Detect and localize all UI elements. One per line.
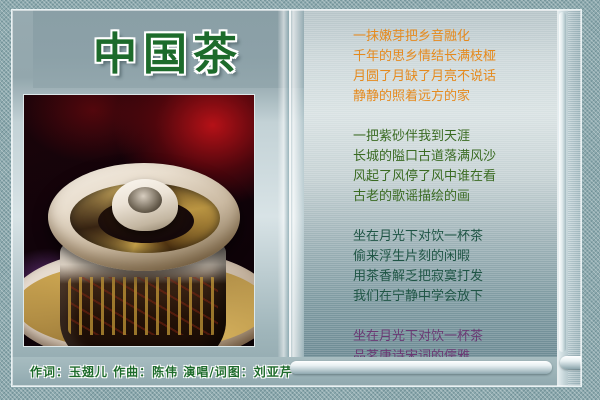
glass-divider (278, 10, 304, 357)
right-side-texture (568, 10, 582, 387)
tea-cup-photo (23, 94, 255, 347)
lyrics-line: 品茗唐诗宋词的儒雅 (353, 347, 557, 357)
glass-divider-highlight (289, 10, 291, 357)
lyrics-text-container: 一抹嫩芽把乡音融化千年的思乡情结长满枝桠月圆了月缺了月亮不说话静静的照着远方的家… (304, 10, 557, 357)
lyrics-line: 千年的思乡情结长满枝桠 (353, 47, 557, 67)
lyrics-line: 月圆了月缺了月亮不说话 (353, 67, 557, 87)
cup-gold-pattern (68, 277, 218, 335)
lyrics-line: 风起了风停了风中谁在看 (353, 167, 557, 187)
lyrics-stanza: 一抹嫩芽把乡音融化千年的思乡情结长满枝桠月圆了月缺了月亮不说话静静的照着远方的家 (353, 27, 557, 107)
lyrics-panel: 一抹嫩芽把乡音融化千年的思乡情结长满枝桠月圆了月缺了月亮不说话静静的照着远方的家… (304, 10, 557, 357)
main-window-card: 中国茶 一抹嫩芽把乡音融化千年的思乡情结长满枝桠月圆了月缺了月亮不说话静静的照着… (11, 9, 582, 387)
bottom-right-handle[interactable] (560, 356, 582, 369)
credits-text: 作词：玉翅儿 作曲：陈伟 演唱/词图：刘亚芹 (30, 363, 293, 380)
horizontal-handle-bar[interactable] (290, 361, 552, 374)
page-title: 中国茶 (93, 18, 243, 82)
lyrics-line: 偷来浮生片刻的闲暇 (353, 247, 557, 267)
lid-knob-hole (128, 187, 162, 213)
lyrics-stanza: 一把紫砂伴我到天涯长城的隘口古道落满风沙风起了风停了风中谁在看古老的歌谣描绘的画 (353, 127, 557, 207)
right-glass-bar[interactable] (559, 12, 566, 352)
lyrics-stanza: 坐在月光下对饮一杯茶品茗唐诗宋词的儒雅洗去了浮华沉淀了年华我们在时光中回味爱的刹… (353, 327, 557, 357)
page-background: 中国茶 一抹嫩芽把乡音融化千年的思乡情结长满枝桠月圆了月缺了月亮不说话静静的照着… (0, 0, 600, 400)
lyrics-line: 长城的隘口古道落满风沙 (353, 147, 557, 167)
lyrics-line: 一抹嫩芽把乡音融化 (353, 27, 557, 47)
lyrics-line: 古老的歌谣描绘的画 (353, 187, 557, 207)
lyrics-line: 坐在月光下对饮一杯茶 (353, 227, 557, 247)
lyrics-line: 一把紫砂伴我到天涯 (353, 127, 557, 147)
lyrics-line: 我们在宁静中学会放下 (353, 287, 557, 307)
lyrics-line: 坐在月光下对饮一杯茶 (353, 327, 557, 347)
lyrics-stanza: 坐在月光下对饮一杯茶偷来浮生片刻的闲暇用茶香解乏把寂寞打发我们在宁静中学会放下 (353, 227, 557, 307)
lyrics-line: 用茶香解乏把寂寞打发 (353, 267, 557, 287)
lyrics-line: 静静的照着远方的家 (353, 87, 557, 107)
